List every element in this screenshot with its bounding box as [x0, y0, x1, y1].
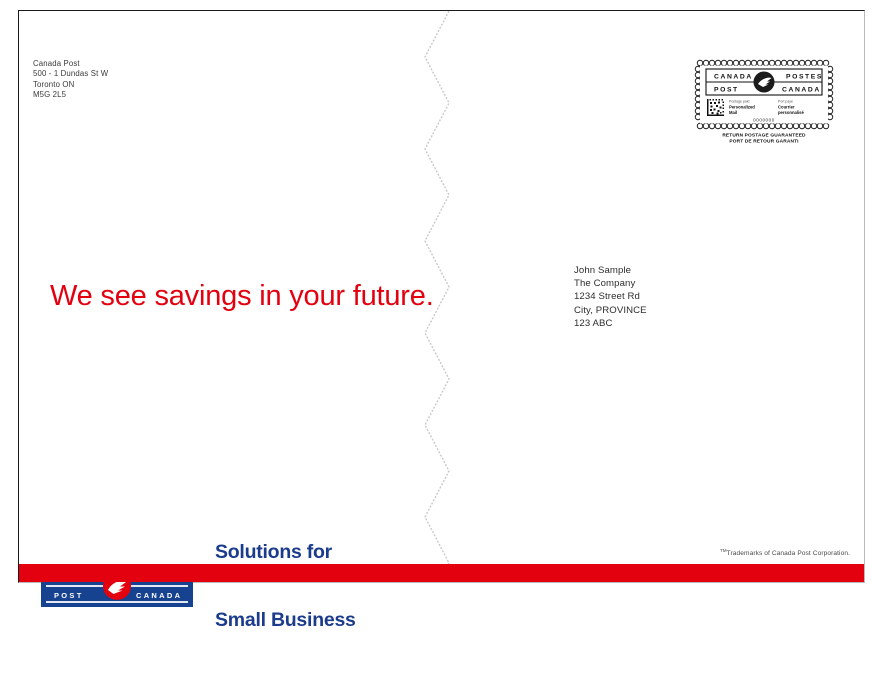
recipient-line-city: City, PROVINCE	[574, 304, 647, 317]
indicia-postage-paid-fr: Port payé	[778, 100, 793, 104]
trademark-symbol: TM	[720, 548, 727, 553]
recipient-address-block: John Sample The Company 1234 Street Rd C…	[574, 264, 647, 330]
recipient-line-company: The Company	[574, 277, 647, 290]
logo-text-canada-2: CANADA	[136, 591, 182, 600]
indicia-guarantee-fr: PORT DE RETOUR GARANTI	[729, 139, 799, 145]
indicia-postage-paid-en: Postage paid	[729, 100, 749, 104]
bottom-red-bar	[19, 564, 864, 582]
postage-indicia: CANADA POSTES POST CANADA	[694, 59, 834, 149]
indicia-permit-number: 0000000	[753, 118, 775, 123]
indicia-service-en-2: Mail	[729, 110, 737, 115]
headline-text: We see savings in your future.	[50, 279, 434, 313]
trademark-note: TMTrademarks of Canada Post Corporation.	[720, 548, 850, 557]
recipient-line-name: John Sample	[574, 264, 647, 277]
tagline-line-2: Small Business	[215, 609, 356, 632]
indicia-datamatrix-barcode	[707, 99, 724, 116]
indicia-wordmark-post: POST	[714, 87, 739, 94]
logo-text-post: POST	[54, 591, 84, 600]
indicia-wordmark-canada: CANADA	[714, 74, 753, 81]
indicia-wordmark-postes: POSTES	[786, 74, 823, 81]
indicia-stamp-icon: CANADA POSTES POST CANADA	[694, 59, 834, 149]
tagline-text: Solutions for Small Business	[215, 496, 356, 676]
trademark-text: Trademarks of Canada Post Corporation.	[727, 550, 850, 557]
indicia-service-fr-1: Courrier	[778, 105, 795, 110]
tagline-line-1: Solutions for	[215, 541, 356, 564]
indicia-service-en-1: Personalized	[729, 105, 755, 110]
return-address-block: Canada Post 500 - 1 Dundas St W Toronto …	[33, 59, 108, 101]
recipient-line-street: 1234 Street Rd	[574, 290, 647, 303]
recipient-line-postal: 123 ABC	[574, 317, 647, 330]
indicia-guarantee-en: RETURN POSTAGE GUARANTEED	[722, 133, 806, 139]
indicia-wordmark-canada-2: CANADA	[782, 87, 821, 94]
logo-lockup: CANADA POSTES POST CANADA Solutions for …	[41, 496, 356, 676]
indicia-service-fr-2: personnalisé	[778, 110, 805, 115]
postcard-sheet: Canada Post 500 - 1 Dundas St W Toronto …	[18, 10, 865, 583]
canada-post-bird-icon	[754, 72, 775, 93]
